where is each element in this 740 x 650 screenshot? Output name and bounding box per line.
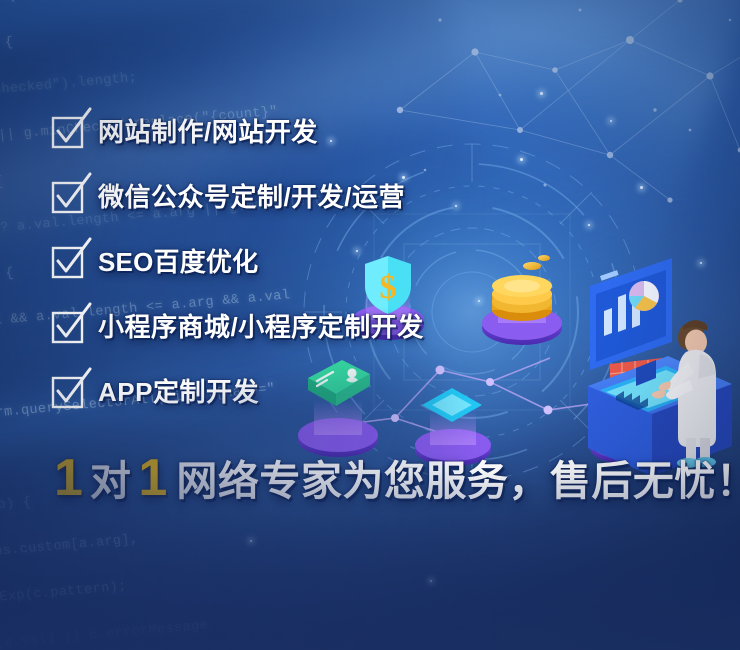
bottom-fade-overlay [0,470,740,650]
promo-banner: g.querySelectorAll("input[type=checkbox]… [0,0,740,650]
